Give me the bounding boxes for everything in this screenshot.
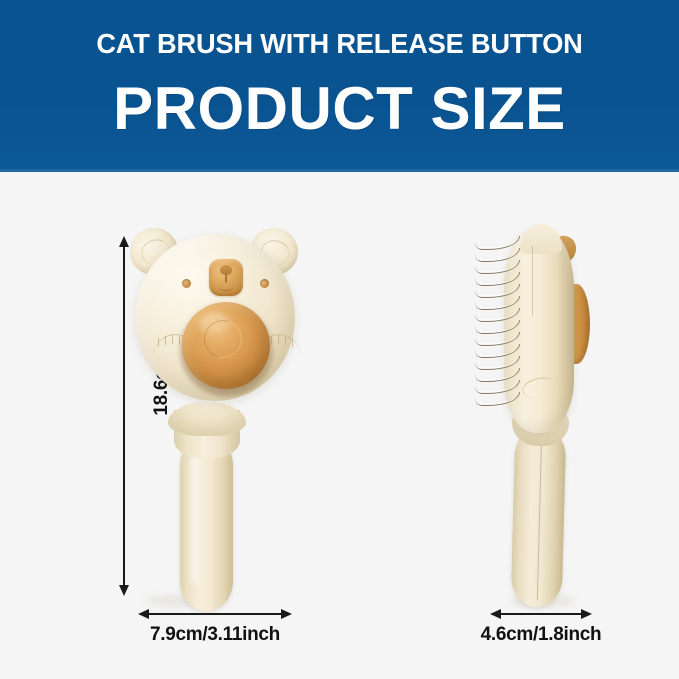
bear-nose-badge-icon (209, 259, 243, 296)
release-button[interactable] (182, 302, 270, 389)
fringe-tick (172, 335, 173, 344)
bear-eye-right-icon (260, 279, 269, 288)
arrow-shaft (498, 613, 584, 615)
header-subtitle: CAT BRUSH WITH RELEASE BUTTON (3, 28, 675, 60)
bristle-pin (475, 392, 520, 406)
bristle-pins (475, 236, 521, 416)
front-width-dimension-label: 7.9cm/3.11inch (98, 624, 332, 646)
front-width-dimension-arrow (138, 608, 292, 619)
bear-mouth-icon (225, 274, 227, 283)
front-view (124, 222, 306, 612)
brush-head-front (135, 234, 295, 401)
bear-eye-left-icon (182, 279, 191, 288)
side-handle-seam (537, 435, 542, 600)
header-banner: CAT BRUSH WITH RELEASE BUTTON PRODUCT SI… (0, 0, 679, 172)
side-handle (511, 426, 567, 607)
arrow-head-right-icon (581, 609, 592, 619)
arrow-shaft (146, 613, 284, 615)
fringe-tick (278, 335, 279, 344)
side-width-dimension-arrow (490, 608, 592, 619)
fringe-tick (285, 336, 286, 345)
product-size-infographic: CAT BRUSH WITH RELEASE BUTTON PRODUCT SI… (0, 0, 679, 679)
product-illustration-area: 18.6cm/7.32inch (0, 172, 679, 679)
fringe-tick (158, 338, 159, 347)
page-title: PRODUCT SIZE (0, 75, 679, 143)
fringe-tick (292, 338, 293, 347)
front-handle (180, 436, 233, 611)
side-width-dimension-label: 4.6cm/1.8inch (428, 624, 654, 646)
fringe-tick (165, 336, 166, 345)
front-neck-flare (168, 402, 246, 436)
arrow-head-right-icon (281, 609, 292, 619)
side-view (470, 222, 610, 612)
side-top-crest (520, 224, 562, 254)
side-body-seam (532, 246, 533, 316)
side-body-swirl (520, 375, 558, 401)
